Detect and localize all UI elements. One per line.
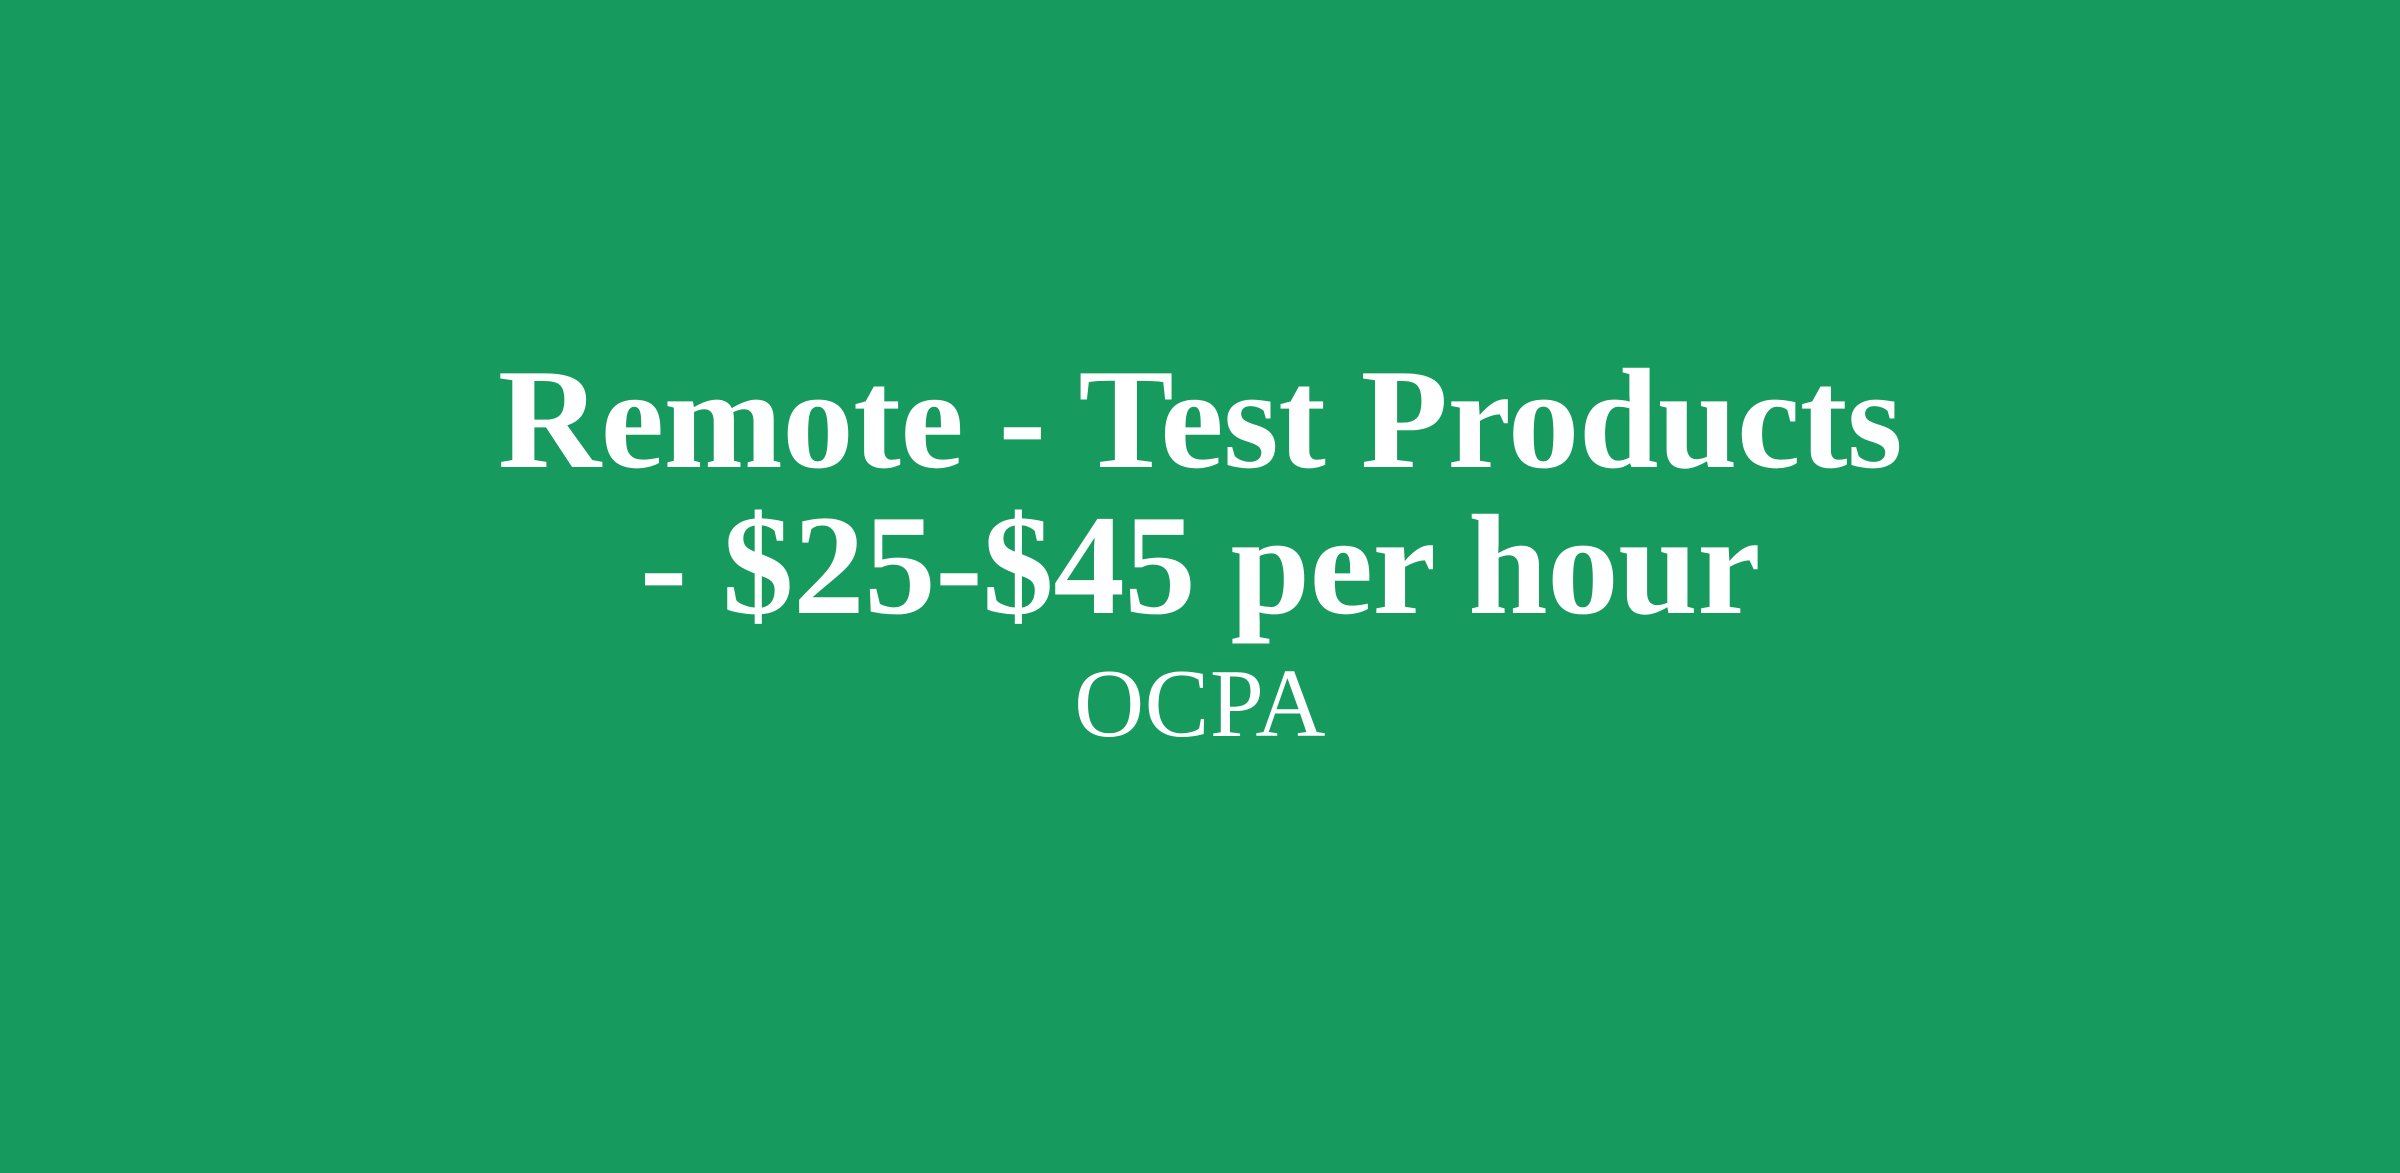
job-listing-banner: Remote - Test Products - $25-$45 per hou… [0, 0, 2400, 1173]
banner-title: Remote - Test Products - $25-$45 per hou… [470, 346, 1930, 638]
banner-subtitle-organization: OCPA [1074, 652, 1326, 756]
banner-content-stack: Remote - Test Products - $25-$45 per hou… [0, 346, 2400, 756]
